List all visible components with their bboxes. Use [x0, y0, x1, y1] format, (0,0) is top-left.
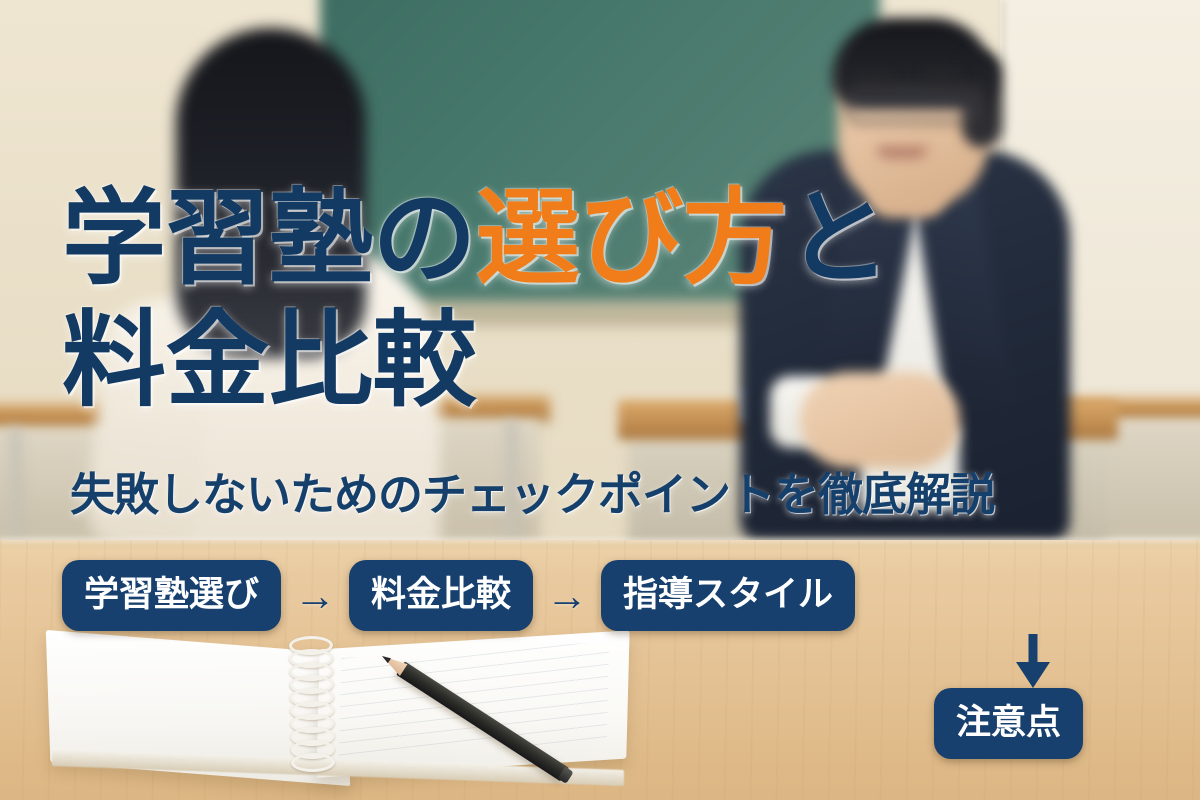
teacher-eyebrow-left [856, 74, 892, 80]
arrow-right-icon: → [533, 575, 601, 617]
flow-row-top: 学習塾選び → 料金比較 → 指導スタイル [62, 560, 855, 631]
teacher-mouth [876, 146, 928, 158]
flow-step-1[interactable]: 学習塾選び [62, 560, 281, 631]
hero-banner: 学習塾の選び方と 料金比較 失敗しないためのチェックポイントを徹底解説 学習塾選… [0, 0, 1200, 800]
headline-accent: 選び方 [476, 181, 787, 297]
subtitle: 失敗しないためのチェックポイントを徹底解説 [70, 458, 1140, 523]
flow-diagram: 学習塾選び → 料金比較 → 指導スタイル 注意点 [62, 560, 1152, 790]
classroom-desk-leg [10, 428, 20, 540]
arrow-right-icon: → [281, 575, 349, 617]
flow-step-final[interactable]: 注意点 [934, 688, 1083, 759]
teacher-glasses [846, 86, 982, 124]
headline-line-1: 学習塾の選び方と [62, 186, 1122, 292]
headline-line-2: 料金比較 [62, 308, 1122, 414]
teacher-eyebrow-right [924, 72, 960, 78]
flow-step-3[interactable]: 指導スタイル [601, 560, 855, 631]
headline: 学習塾の選び方と 料金比較 [62, 186, 1122, 414]
headline-part-2: と [787, 181, 891, 297]
headline-part-1: 学習塾の [62, 181, 476, 297]
flow-step-2[interactable]: 料金比較 [349, 560, 533, 631]
arrow-down-icon [1013, 634, 1053, 688]
